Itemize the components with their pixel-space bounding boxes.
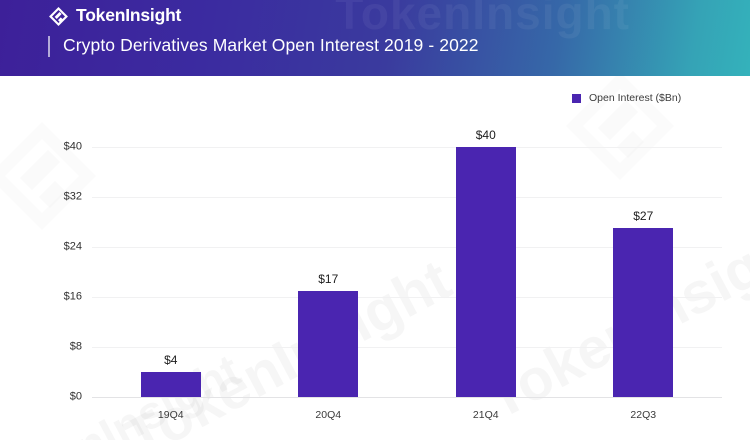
legend-swatch-open-interest — [572, 94, 581, 103]
legend-label-open-interest: Open Interest ($Bn) — [589, 93, 681, 104]
brand-name: TokenInsight — [76, 7, 181, 25]
watermark-text: TokenInsight — [0, 343, 249, 440]
title-row: Crypto Derivatives Market Open Interest … — [48, 32, 479, 60]
tokeninsight-diamond-logo-icon — [48, 6, 69, 27]
chart-board: TokenInsightTokenInsightTokenInsight — [0, 76, 750, 440]
watermark-diamond-icon — [0, 116, 102, 236]
header-banner: TokenInsight TokenInsight Crypto Derivat… — [0, 0, 750, 76]
brand: TokenInsight — [48, 4, 181, 28]
watermark-text: TokenInsight — [115, 246, 461, 440]
chart-infographic: TokenInsight TokenInsight Crypto Derivat… — [0, 0, 750, 440]
watermark-text: TokenInsight — [475, 206, 750, 433]
title-accent-bar — [48, 36, 50, 57]
chart-legend: Open Interest ($Bn) — [572, 93, 681, 104]
page-title: Crypto Derivatives Market Open Interest … — [63, 37, 479, 55]
